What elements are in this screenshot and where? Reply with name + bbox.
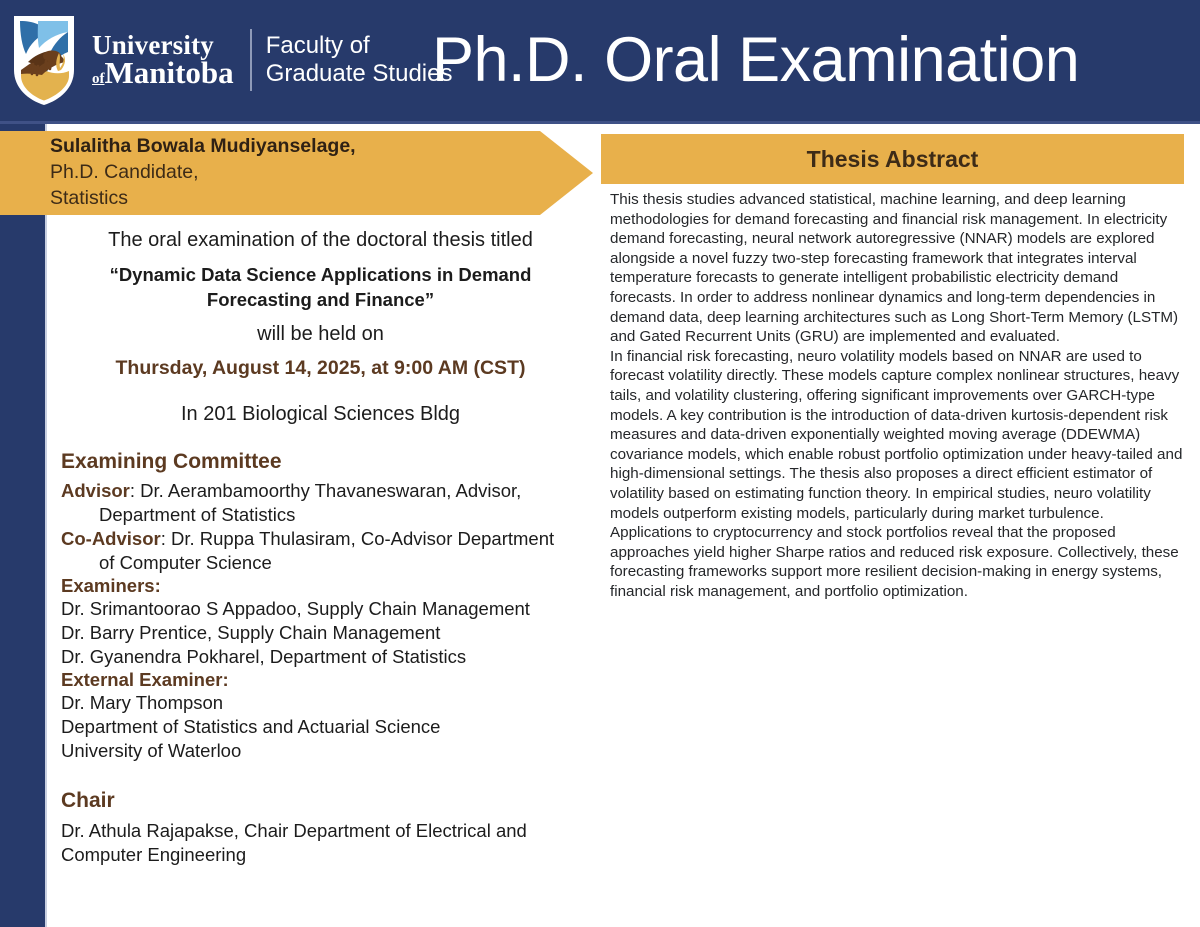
wordmark-divider [250,29,252,91]
coadvisor-name: : Dr. Ruppa Thulasiram, Co-Advisor Depar… [161,528,554,549]
wordmark-faculty: Faculty of Graduate Studies [266,32,453,88]
chair-line-1: Dr. Athula Rajapakse, Chair Department o… [61,819,593,843]
university-crest-icon [8,12,80,108]
thesis-title: “Dynamic Data Science Applications in De… [66,262,575,312]
list-item: Dr. Barry Prentice, Supply Chain Managem… [61,621,593,645]
spine-hairline [45,124,47,927]
advisor-department: Department of Statistics [61,503,593,527]
candidate-name: Sulalitha Bowala Mudiyanselage, [50,133,550,159]
candidate-program: Statistics [50,185,550,211]
external-examiner-heading: External Examiner: [61,669,593,691]
thesis-abstract-heading: Thesis Abstract [601,134,1184,184]
advisor-role-label: Advisor [61,480,130,501]
candidate-info: Sulalitha Bowala Mudiyanselage, Ph.D. Ca… [50,133,550,211]
chair-line-2: Computer Engineering [61,843,593,867]
thesis-abstract-body: This thesis studies advanced statistical… [610,190,1188,601]
page-title: Ph.D. Oral Examination [432,14,1192,106]
wordmark-university: University ofManitoba [92,32,234,88]
list-item: University of Waterloo [61,739,593,763]
left-navy-spine [0,124,45,927]
candidate-role: Ph.D. Candidate, [50,159,550,185]
announcement-datetime: Thursday, August 14, 2025, at 9:00 AM (C… [48,357,593,380]
announcement-location: In 201 Biological Sciences Bldg [48,400,593,428]
examiners-heading: Examiners: [61,575,593,597]
advisor-name: : Dr. Aerambamoorthy Thavaneswaran, Advi… [130,480,521,501]
faculty-line-2: Graduate Studies [266,60,453,88]
announcement-will-be-held: will be held on [48,320,593,348]
faculty-line-1: Faculty of [266,32,453,60]
logo-wordmark: University ofManitoba Faculty of Graduat… [92,29,452,91]
list-item: Dr. Mary Thompson [61,691,593,715]
abstract-paragraph-2: In financial risk forecasting, neuro vol… [610,347,1188,602]
list-item: Dr. Gyanendra Pokharel, Department of St… [61,645,593,669]
coadvisor-line: Co-Advisor: Dr. Ruppa Thulasiram, Co-Adv… [61,527,593,551]
announcement-column: The oral examination of the doctoral the… [48,222,593,922]
list-item: Department of Statistics and Actuarial S… [61,715,593,739]
advisor-line: Advisor: Dr. Aerambamoorthy Thavaneswara… [61,479,593,503]
coadvisor-department: of Computer Science [61,551,593,575]
university-logo-lockup: University ofManitoba Faculty of Graduat… [8,10,452,110]
list-item: Dr. Srimantoorao S Appadoo, Supply Chain… [61,597,593,621]
examining-committee-heading: Examining Committee [61,450,593,474]
wordmark-manitoba-line: ofManitoba [92,58,234,88]
announcement-intro: The oral examination of the doctoral the… [48,226,593,254]
coadvisor-role-label: Co-Advisor [61,528,161,549]
chair-heading: Chair [61,789,593,813]
abstract-paragraph-1: This thesis studies advanced statistical… [610,190,1188,347]
header-accent-rule [0,121,1200,124]
